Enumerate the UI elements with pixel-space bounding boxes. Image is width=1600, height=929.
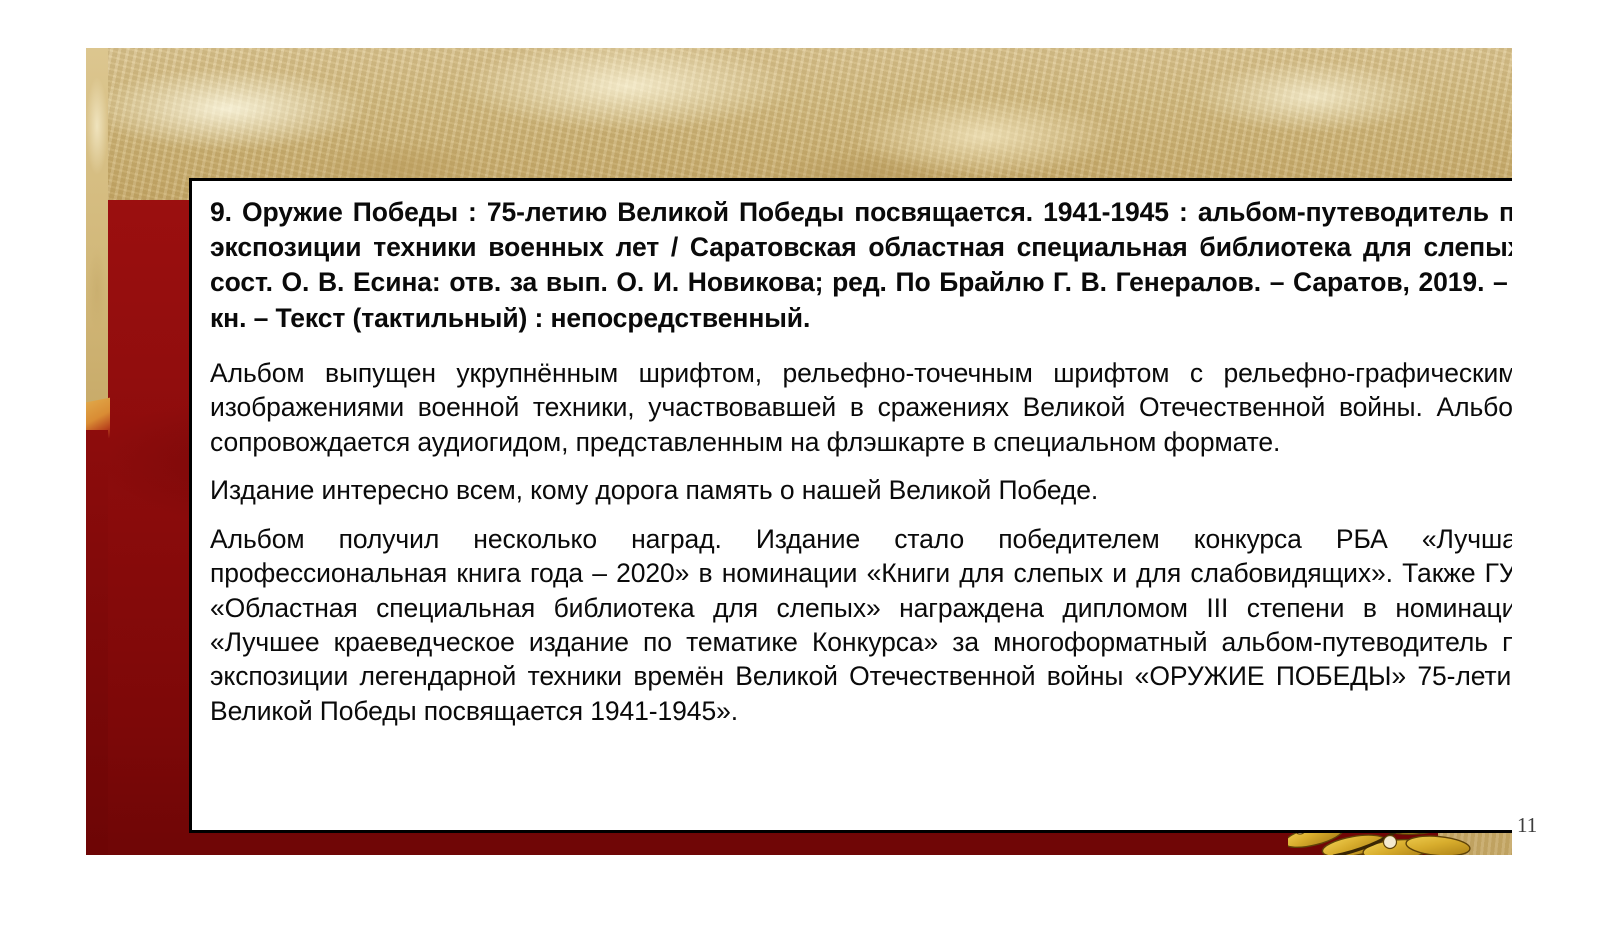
entry-paragraph-2: Издание интересно всем, кому дорога памя… (210, 473, 1512, 507)
presentation-slide: 9. Оружие Победы : 75-летию Великой Побе… (86, 48, 1512, 855)
page-number: 11 (1517, 813, 1537, 838)
content-card: 9. Оружие Победы : 75-летию Великой Побе… (189, 178, 1512, 833)
entry-paragraph-1: Альбом выпущен укрупнённым шрифтом, рель… (210, 356, 1512, 459)
red-left-border (86, 430, 108, 855)
gold-left-border (86, 48, 108, 438)
entry-heading: 9. Оружие Победы : 75-летию Великой Побе… (210, 195, 1512, 336)
entry-paragraph-3: Альбом получил несколько наград. Издание… (210, 522, 1512, 729)
